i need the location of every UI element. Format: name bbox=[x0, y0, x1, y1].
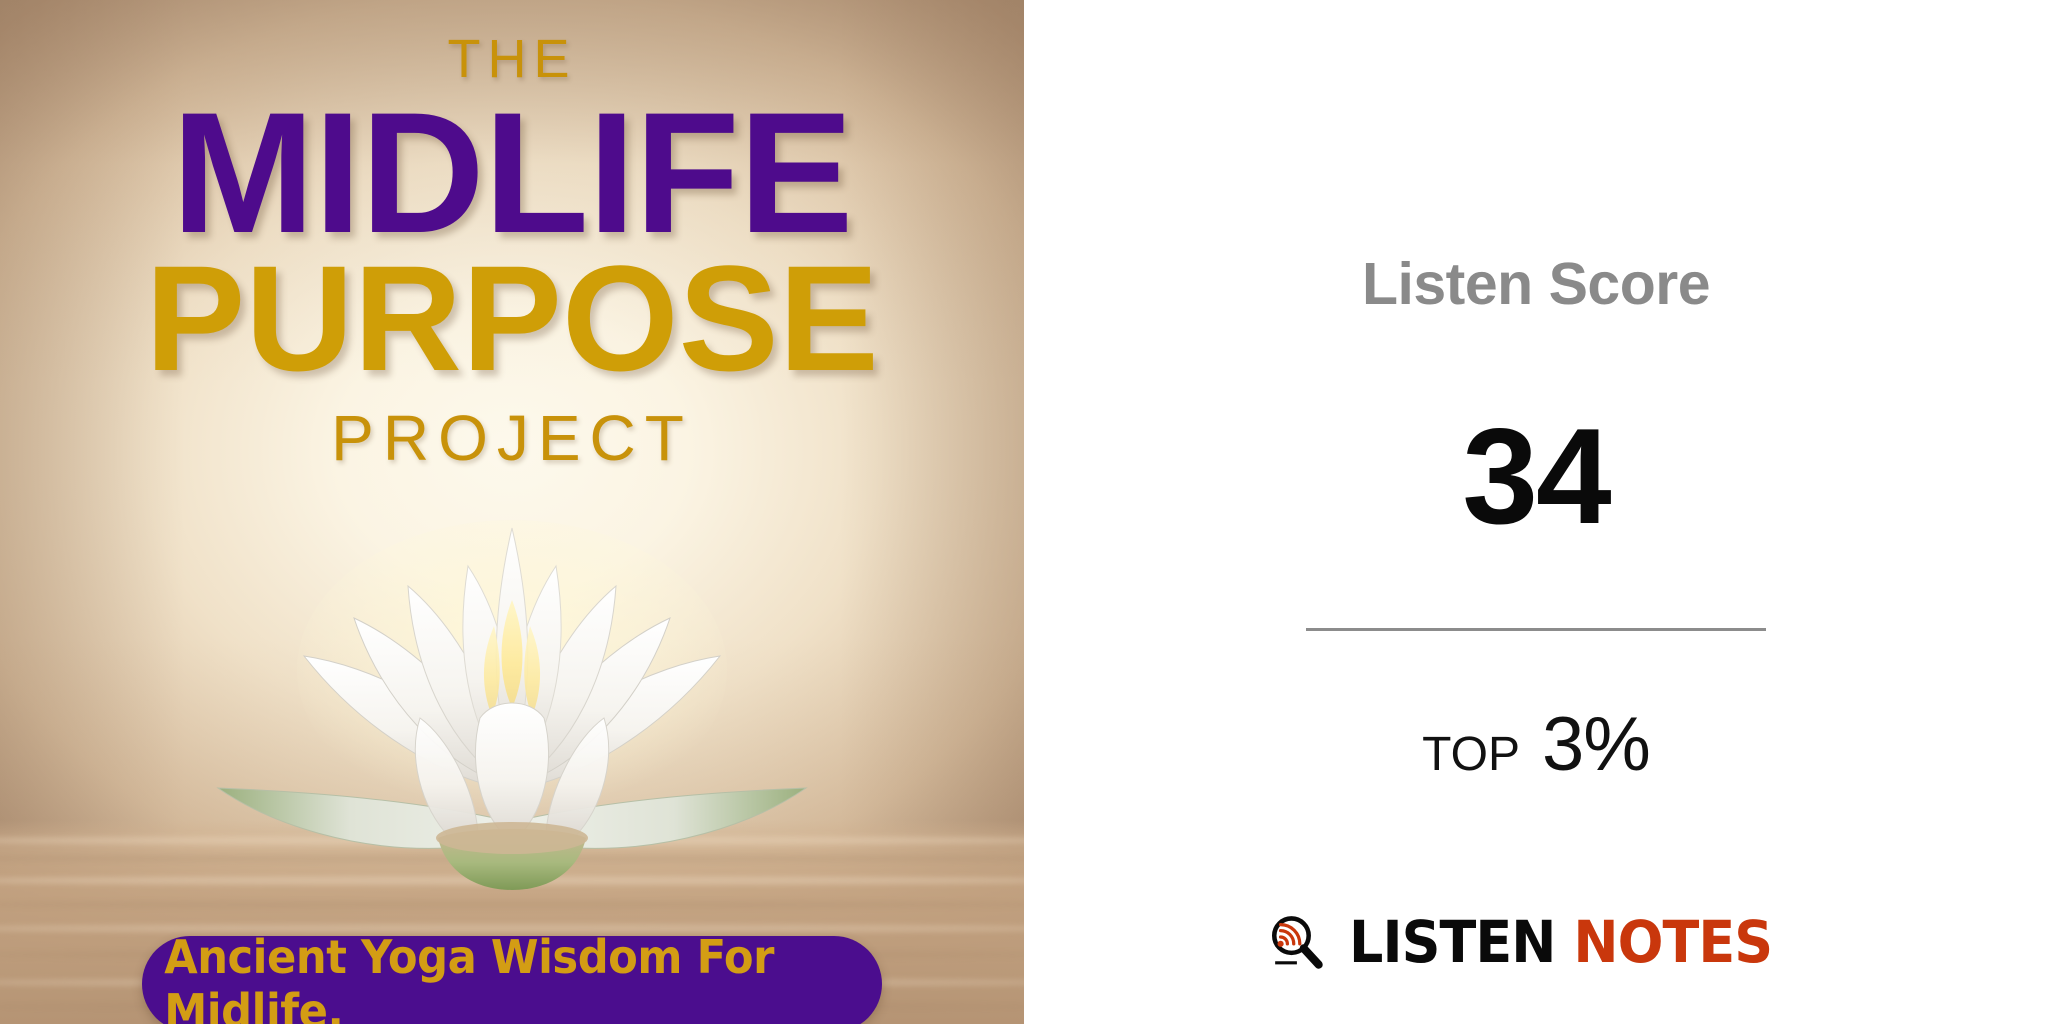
cover-title-line-2: PURPOSE bbox=[0, 247, 1024, 390]
cover-title-line-1: MIDLIFE bbox=[0, 92, 1024, 255]
cover-tagline-text: Ancient Yoga Wisdom For Midlife. bbox=[164, 930, 860, 1024]
listen-score-label: Listen Score bbox=[1362, 255, 1710, 314]
rank-percentile: 3% bbox=[1542, 707, 1650, 783]
rank-label: TOP bbox=[1422, 731, 1520, 779]
cover-title-block: THE MIDLIFE PURPOSE PROJECT bbox=[0, 0, 1024, 470]
cover-subtitle: PROJECT bbox=[0, 406, 1024, 470]
wordmark-listen: LISTEN bbox=[1349, 908, 1556, 976]
listen-notes-wordmark: LISTEN NOTES bbox=[1349, 913, 1772, 971]
magnifier-rss-icon bbox=[1267, 913, 1325, 971]
cover-tagline-banner: Ancient Yoga Wisdom For Midlife. bbox=[142, 936, 882, 1024]
listen-notes-logo[interactable]: LISTEN NOTES bbox=[1267, 913, 1804, 971]
wordmark-notes: NOTES bbox=[1574, 908, 1773, 976]
podcast-cover-art[interactable]: THE MIDLIFE PURPOSE PROJECT Ancient Yoga… bbox=[0, 0, 1024, 1024]
global-rank-row: TOP 3% bbox=[1422, 707, 1650, 783]
water-ripple bbox=[0, 900, 1024, 909]
wordmark-space bbox=[1556, 908, 1574, 976]
listen-score-panel: Listen Score 34 TOP 3% bbox=[1024, 0, 2048, 1024]
listen-score-value: 34 bbox=[1462, 408, 1609, 544]
lotus-flower-icon bbox=[192, 470, 832, 900]
score-divider bbox=[1306, 628, 1766, 631]
listen-score-card: THE MIDLIFE PURPOSE PROJECT Ancient Yoga… bbox=[0, 0, 2048, 1024]
